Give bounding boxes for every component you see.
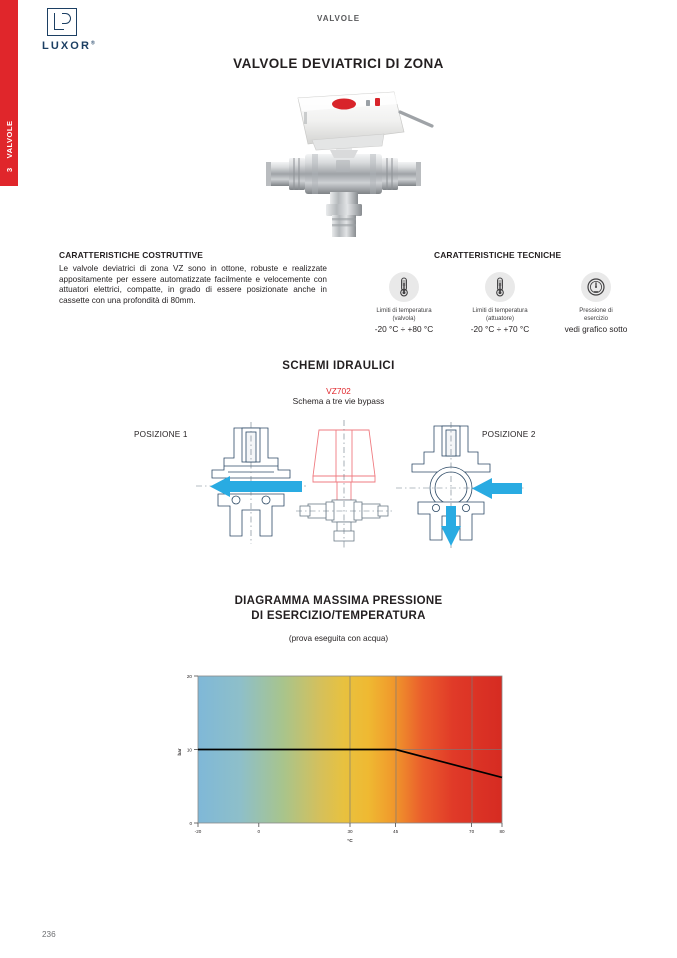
constructive-characteristics: CARATTERISTICHE COSTRUTTIVE Le valvole d… — [59, 250, 327, 306]
tech-caption: Limiti di temperatura (attuatore) — [456, 307, 544, 322]
svg-text:0: 0 — [189, 821, 192, 826]
tech-item-working-pressure: Pressione di esercizio vedi grafico sott… — [552, 272, 640, 334]
thermometer-icon-badge — [485, 272, 515, 302]
registered-mark: ® — [91, 40, 95, 46]
brand-name: LUXOR® — [42, 40, 102, 52]
chart-y-ticks — [194, 676, 198, 823]
valve-photo-illustration — [252, 82, 435, 247]
chart-svg: 01020 bar -20030457080 °C — [172, 668, 515, 846]
tech-value: -20 °C ÷ +80 °C — [360, 324, 448, 334]
pressure-gauge-icon-badge — [581, 272, 611, 302]
schematic-valve-with-actuator — [296, 420, 392, 548]
tech-value: -20 °C ÷ +70 °C — [456, 324, 544, 334]
chart-y-ticklabels: 01020 — [187, 674, 193, 826]
svg-text:20: 20 — [187, 674, 193, 679]
svg-text:70: 70 — [469, 829, 475, 834]
tech-value: vedi grafico sotto — [552, 324, 640, 334]
diagram-note: (prova eseguita con acqua) — [0, 634, 677, 643]
page-number: 236 — [42, 930, 56, 939]
thermometer-icon-badge — [389, 272, 419, 302]
product-photo — [252, 82, 435, 247]
tech-item-actuator-temperature: Limiti di temperatura (attuatore) -20 °C… — [456, 272, 544, 334]
pressure-temperature-chart: 01020 bar -20030457080 °C — [172, 668, 515, 846]
schematic-position-2 — [396, 422, 524, 548]
thermometer-icon — [396, 277, 412, 297]
chart-x-ticklabels: -20030457080 — [195, 829, 505, 834]
svg-text:30: 30 — [347, 829, 353, 834]
constructive-body: Le valvole deviatrici di zona VZ sono in… — [59, 264, 327, 306]
svg-text:10: 10 — [187, 748, 193, 753]
technical-icon-row: Limiti di temperatura (valvola) -20 °C ÷… — [360, 272, 640, 334]
page-title: VALVOLE DEVIATRICI DI ZONA — [0, 56, 677, 71]
position-1-label: POSIZIONE 1 — [134, 430, 188, 439]
pressure-gauge-icon — [586, 277, 606, 297]
section-tab-text: 3 VALVOLE — [0, 0, 18, 186]
svg-text:45: 45 — [393, 829, 399, 834]
schema-code: VZ702 — [0, 386, 677, 396]
schemi-idraulici-title: SCHEMI IDRAULICI — [0, 360, 677, 372]
schema-subtitle: Schema a tre vie bypass — [0, 396, 677, 406]
technical-heading: CARATTERISTICHE TECNICHE — [434, 250, 634, 260]
svg-text:80: 80 — [499, 829, 505, 834]
chart-ylabel: bar — [177, 748, 182, 755]
section-tab-label: VALVOLE — [5, 121, 14, 159]
svg-text:0: 0 — [258, 829, 261, 834]
chart-x-ticks — [198, 823, 502, 827]
constructive-heading: CARATTERISTICHE COSTRUTTIVE — [59, 250, 327, 260]
diagram-title: DIAGRAMMA MASSIMA PRESSIONE DI ESERCIZIO… — [0, 594, 677, 624]
running-head: VALVOLE — [0, 14, 677, 23]
section-tab: 3 VALVOLE — [0, 0, 18, 186]
tech-item-valve-temperature: Limiti di temperatura (valvola) -20 °C ÷… — [360, 272, 448, 334]
tech-caption: Pressione di esercizio — [552, 307, 640, 322]
section-tab-number: 3 — [5, 167, 14, 172]
technical-characteristics: CARATTERISTICHE TECNICHE — [434, 250, 634, 264]
tech-caption: Limiti di temperatura (valvola) — [360, 307, 448, 322]
chart-xlabel: °C — [347, 838, 353, 844]
thermometer-icon — [492, 277, 508, 297]
svg-text:-20: -20 — [195, 829, 202, 834]
schematic-position-1 — [196, 422, 306, 544]
